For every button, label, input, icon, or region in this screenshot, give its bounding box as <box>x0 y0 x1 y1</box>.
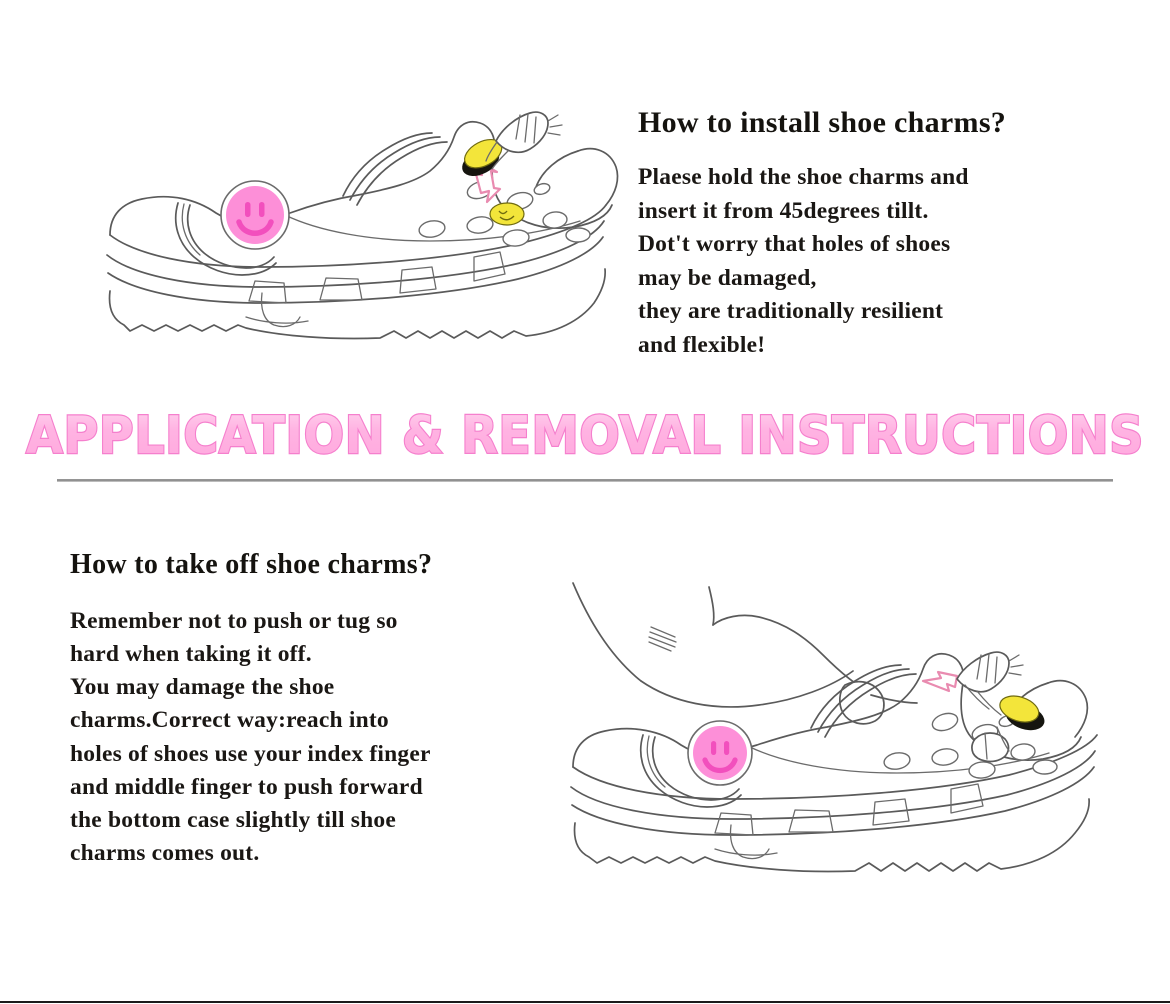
empty-charm-hole <box>972 733 1009 761</box>
removal-line-7: charms comes out. <box>70 837 570 870</box>
removal-diagram-svg <box>545 575 1155 905</box>
install-heading: How to install shoe charms? <box>638 106 1108 139</box>
install-section: How to install shoe charms? Plaese hold … <box>0 0 1170 400</box>
removal-line-0: Remember not to push or tug so <box>70 605 570 638</box>
removal-body: Remember not to push or tug so hard when… <box>70 605 570 871</box>
banner-divider <box>57 479 1113 482</box>
banner-svg: APPLICATION & REMOVAL INSTRUCTIONS <box>20 406 1150 466</box>
removal-line-6: the bottom case slightly till shoe <box>70 804 570 837</box>
charm-removing-yellow <box>995 691 1050 734</box>
clog-shoe-removal-illustration <box>545 575 1155 905</box>
hand-reaching-into-shoe <box>573 583 917 724</box>
charm-inserted-yellow <box>490 203 524 225</box>
page-bottom-rule <box>0 1001 1170 1003</box>
install-body: Plaese hold the shoe charms and insert i… <box>638 161 1108 362</box>
removal-line-4: holes of shoes use your index finger <box>70 738 570 771</box>
install-text-block: How to install shoe charms? Plaese hold … <box>638 106 1108 362</box>
install-line-0: Plaese hold the shoe charms and <box>638 161 1108 195</box>
removal-line-1: hard when taking it off. <box>70 638 570 671</box>
install-diagram-svg <box>50 95 630 355</box>
install-line-1: insert it from 45degrees tillt. <box>638 195 1108 229</box>
install-line-5: and flexible! <box>638 329 1108 363</box>
banner-section: APPLICATION & REMOVAL INSTRUCTIONS <box>0 403 1170 483</box>
removal-heading: How to take off shoe charms? <box>70 550 570 581</box>
clog-shoe-install-illustration <box>50 95 630 355</box>
removal-text-block: How to take off shoe charms? Remember no… <box>70 550 570 870</box>
removal-section: How to take off shoe charms? Remember no… <box>0 490 1170 960</box>
remove-arrow-icon <box>923 672 957 691</box>
removal-line-5: and middle finger to push forward <box>70 771 570 804</box>
removal-line-3: charms.Correct way:reach into <box>70 704 570 737</box>
instruction-page: How to install shoe charms? Plaese hold … <box>0 0 1170 1004</box>
charm-smiley-pink <box>688 721 752 785</box>
application-removal-banner: APPLICATION & REMOVAL INSTRUCTIONS <box>20 406 1150 464</box>
install-line-4: they are traditionally resilient <box>638 295 1108 329</box>
removal-line-2: You may damage the shoe <box>70 671 570 704</box>
install-line-2: Dot't worry that holes of shoes <box>638 228 1108 262</box>
banner-title: APPLICATION & REMOVAL INSTRUCTIONS <box>26 406 1144 466</box>
install-line-3: may be damaged, <box>638 262 1108 296</box>
charm-smiley-pink <box>221 181 289 249</box>
